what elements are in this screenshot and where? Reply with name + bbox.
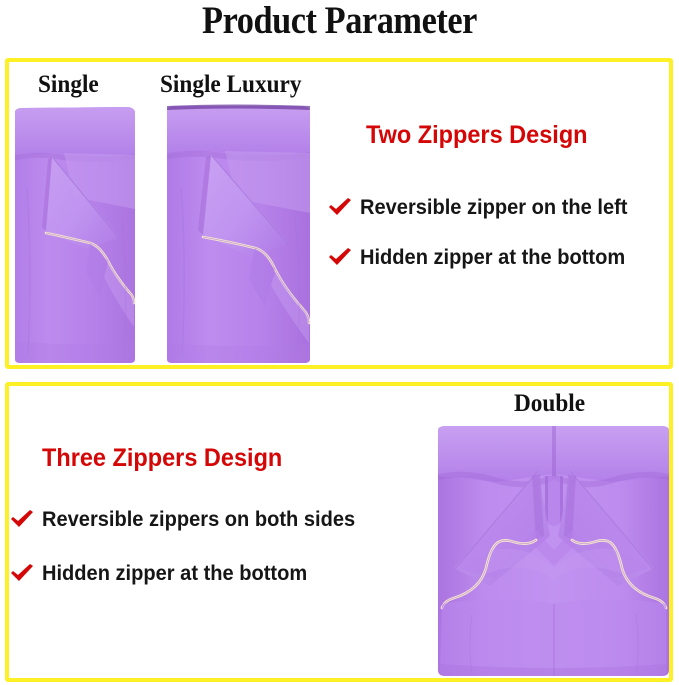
heading-three-zippers-design: Three Zippers Design (42, 444, 282, 473)
bullet-top-1: Reversible zipper on the left (327, 196, 640, 220)
bullet-top-1-label: Reversible zipper on the left (360, 196, 627, 220)
bullet-bottom-2-label: Hidden zipper at the bottom (42, 562, 307, 586)
bullet-top-2: Hidden zipper at the bottom (327, 246, 638, 270)
product-label-double: Double (514, 390, 585, 418)
bullet-bottom-1-label: Reversible zippers on both sides (42, 508, 355, 532)
bedding-liner-double-image (432, 418, 675, 682)
page-title: Product Parameter (41, 0, 639, 43)
bullet-top-2-label: Hidden zipper at the bottom (360, 246, 625, 270)
check-icon (9, 508, 35, 532)
product-label-single: Single (38, 71, 99, 99)
check-icon (9, 562, 35, 586)
bullet-bottom-2: Hidden zipper at the bottom (9, 562, 320, 586)
product-label-single-luxury: Single Luxury (160, 71, 301, 99)
bullet-bottom-1: Reversible zippers on both sides (9, 508, 370, 532)
bedding-liner-single-luxury-image (163, 97, 313, 367)
bedding-liner-single-image (12, 97, 138, 367)
check-icon (327, 196, 353, 220)
heading-two-zippers-design: Two Zippers Design (366, 121, 588, 150)
check-icon (327, 246, 353, 270)
